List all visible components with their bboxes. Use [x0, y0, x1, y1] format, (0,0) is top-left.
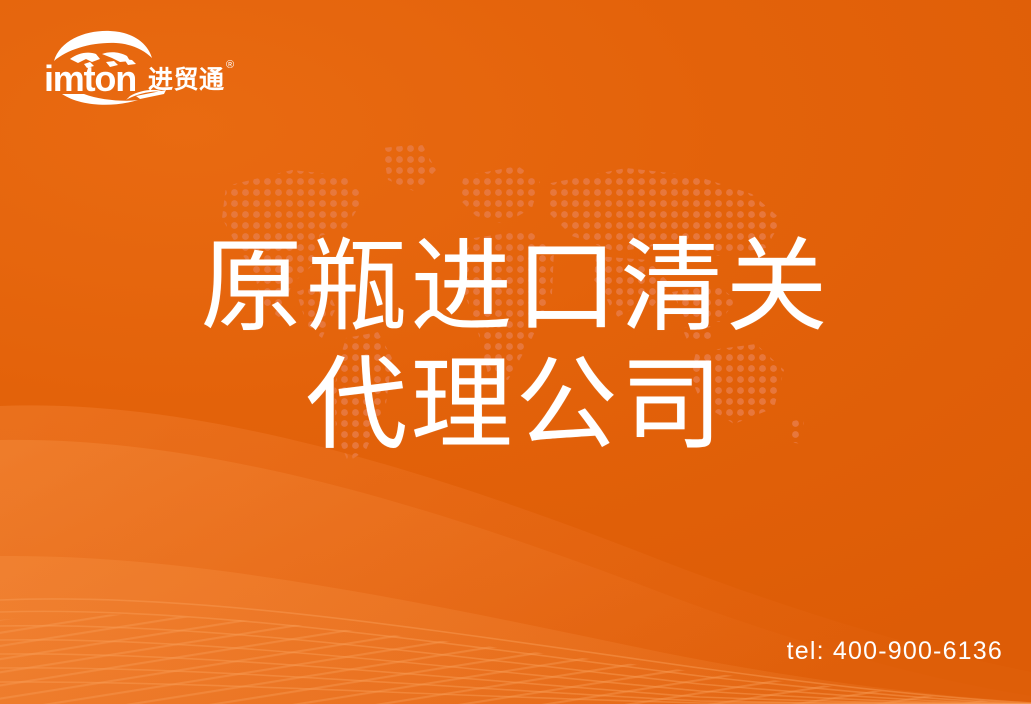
promo-banner: imton 进贸通 ® 原瓶进口清关 代理公司 tel: 400-900-613…	[0, 0, 1031, 704]
headline: 原瓶进口清关 代理公司	[0, 228, 1031, 464]
logo-chinese-mark: 进贸通	[148, 66, 225, 94]
contact-phone[interactable]: tel: 400-900-6136	[787, 637, 1003, 666]
brand-logo[interactable]: imton 进贸通 ®	[40, 28, 245, 106]
headline-line-2: 代理公司	[0, 346, 1031, 464]
logo-wordmark: imton	[44, 58, 136, 99]
registered-trademark-icon: ®	[226, 59, 234, 71]
headline-line-1: 原瓶进口清关	[0, 228, 1031, 346]
